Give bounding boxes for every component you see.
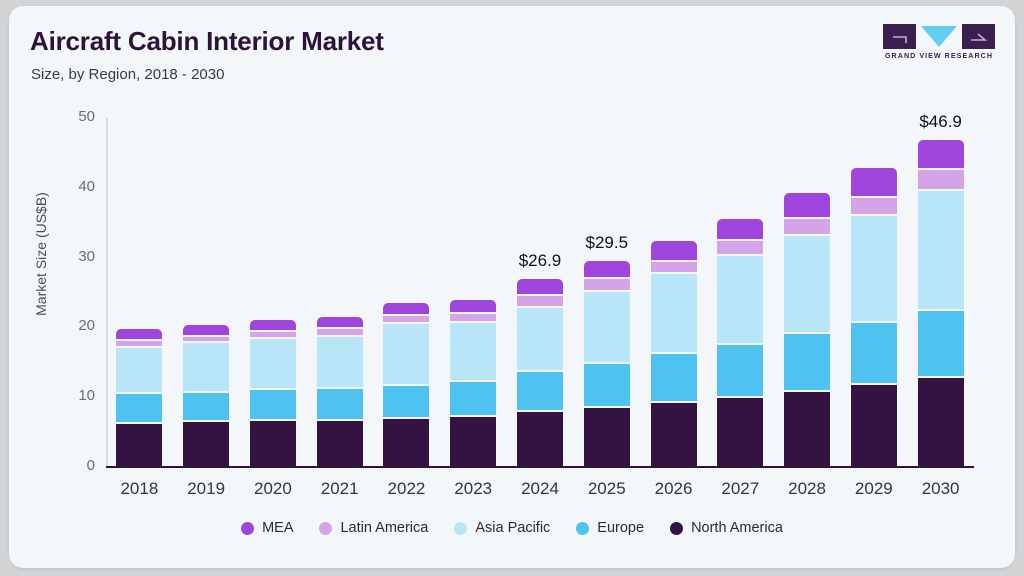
legend-item-north-america[interactable]: North America xyxy=(670,520,783,536)
bar-segment-mea[interactable] xyxy=(383,303,429,316)
bar-segment-mea[interactable] xyxy=(717,219,763,241)
legend-swatch-icon xyxy=(454,522,467,535)
bar-stack xyxy=(918,140,964,467)
bar-segment-europe[interactable] xyxy=(383,386,429,419)
legend-swatch-icon xyxy=(576,522,589,535)
bar-segment-mea[interactable] xyxy=(317,317,363,329)
bar-2028[interactable] xyxy=(784,118,830,467)
y-axis-tick-10: 10 xyxy=(47,387,95,404)
bar-stack xyxy=(584,261,630,467)
bar-stack xyxy=(517,279,563,467)
bar-segment-asia-pacific[interactable] xyxy=(450,323,496,382)
bar-segment-latin-america[interactable] xyxy=(116,341,162,348)
bar-2027[interactable] xyxy=(717,118,763,467)
value-label-2025: $29.5 xyxy=(568,233,646,253)
bar-segment-asia-pacific[interactable] xyxy=(250,339,296,390)
bar-segment-latin-america[interactable] xyxy=(717,241,763,256)
legend-label: North America xyxy=(691,520,783,536)
bar-segment-latin-america[interactable] xyxy=(851,198,897,217)
bar-2018[interactable] xyxy=(116,118,162,467)
y-axis-tick-30: 30 xyxy=(47,248,95,265)
bar-stack xyxy=(317,317,363,467)
bar-segment-latin-america[interactable] xyxy=(383,316,429,324)
legend-item-latin-america[interactable]: Latin America xyxy=(319,520,428,536)
bar-segment-north-america[interactable] xyxy=(383,419,429,467)
screenshot-root: Aircraft Cabin Interior Market Size, by … xyxy=(0,0,1024,576)
bar-2019[interactable] xyxy=(183,118,229,467)
bar-segment-mea[interactable] xyxy=(651,241,697,262)
bar-segment-asia-pacific[interactable] xyxy=(784,236,830,334)
bar-segment-north-america[interactable] xyxy=(450,417,496,467)
bar-segment-latin-america[interactable] xyxy=(784,219,830,236)
bar-segment-asia-pacific[interactable] xyxy=(651,274,697,354)
bar-segment-europe[interactable] xyxy=(784,334,830,392)
bar-2020[interactable] xyxy=(250,118,296,467)
bar-segment-north-america[interactable] xyxy=(517,412,563,467)
bar-segment-north-america[interactable] xyxy=(317,421,363,467)
bar-stack xyxy=(851,168,897,467)
bar-stack xyxy=(183,325,229,467)
bar-segment-latin-america[interactable] xyxy=(584,279,630,292)
bar-segment-asia-pacific[interactable] xyxy=(717,256,763,345)
bar-segment-asia-pacific[interactable] xyxy=(918,191,964,311)
bar-2026[interactable] xyxy=(651,118,697,467)
bar-segment-mea[interactable] xyxy=(450,300,496,314)
legend-label: Asia Pacific xyxy=(475,520,550,536)
legend-swatch-icon xyxy=(670,522,683,535)
value-label-2024: $26.9 xyxy=(501,251,579,271)
chart-legend: MEALatin AmericaAsia PacificEuropeNorth … xyxy=(9,520,1015,536)
bar-stack xyxy=(717,219,763,467)
bar-2029[interactable] xyxy=(851,118,897,467)
legend-item-europe[interactable]: Europe xyxy=(576,520,644,536)
bar-segment-mea[interactable] xyxy=(250,320,296,332)
bar-2022[interactable] xyxy=(383,118,429,467)
legend-swatch-icon xyxy=(319,522,332,535)
bar-stack xyxy=(116,329,162,467)
legend-label: Europe xyxy=(597,520,644,536)
bar-segment-north-america[interactable] xyxy=(651,403,697,467)
bar-segment-latin-america[interactable] xyxy=(250,332,296,339)
bars-layer xyxy=(106,118,974,467)
bar-stack xyxy=(784,193,830,467)
bar-segment-mea[interactable] xyxy=(851,168,897,197)
bar-2023[interactable] xyxy=(450,118,496,467)
bar-segment-europe[interactable] xyxy=(717,345,763,398)
value-label-2030: $46.9 xyxy=(902,112,980,132)
bar-segment-mea[interactable] xyxy=(784,193,830,219)
bar-segment-mea[interactable] xyxy=(183,325,229,337)
bar-segment-europe[interactable] xyxy=(317,389,363,421)
y-axis-tick-40: 40 xyxy=(47,178,95,195)
bar-stack xyxy=(450,300,496,467)
bar-segment-latin-america[interactable] xyxy=(317,329,363,337)
x-axis-tick-2030: 2030 xyxy=(902,479,980,499)
bar-segment-north-america[interactable] xyxy=(851,385,897,467)
bar-stack xyxy=(383,303,429,467)
bar-segment-europe[interactable] xyxy=(183,393,229,422)
bar-segment-asia-pacific[interactable] xyxy=(116,348,162,394)
bar-stack xyxy=(651,241,697,467)
legend-item-mea[interactable]: MEA xyxy=(241,520,293,536)
bar-segment-asia-pacific[interactable] xyxy=(317,337,363,389)
bar-segment-mea[interactable] xyxy=(918,140,964,170)
bar-chart: Market Size (US$B) 01020304050 201820192… xyxy=(9,6,1015,568)
legend-item-asia-pacific[interactable]: Asia Pacific xyxy=(454,520,550,536)
bar-segment-north-america[interactable] xyxy=(116,424,162,467)
bar-segment-latin-america[interactable] xyxy=(450,314,496,322)
bar-segment-latin-america[interactable] xyxy=(517,296,563,308)
y-axis-tick-20: 20 xyxy=(47,317,95,334)
bar-segment-asia-pacific[interactable] xyxy=(851,216,897,322)
legend-label: MEA xyxy=(262,520,293,536)
bar-2024[interactable] xyxy=(517,118,563,467)
bar-segment-europe[interactable] xyxy=(651,354,697,403)
bar-segment-latin-america[interactable] xyxy=(651,262,697,275)
bar-segment-north-america[interactable] xyxy=(717,398,763,467)
bar-segment-asia-pacific[interactable] xyxy=(383,324,429,386)
bar-segment-asia-pacific[interactable] xyxy=(517,308,563,372)
bar-segment-mea[interactable] xyxy=(517,279,563,296)
bar-2030[interactable] xyxy=(918,118,964,467)
bar-segment-north-america[interactable] xyxy=(183,422,229,467)
bar-segment-north-america[interactable] xyxy=(784,392,830,467)
bar-segment-mea[interactable] xyxy=(584,261,630,278)
bar-segment-europe[interactable] xyxy=(450,382,496,418)
bar-segment-europe[interactable] xyxy=(918,311,964,379)
legend-label: Latin America xyxy=(340,520,428,536)
bar-segment-latin-america[interactable] xyxy=(918,170,964,191)
bar-segment-north-america[interactable] xyxy=(250,421,296,467)
bar-segment-europe[interactable] xyxy=(851,323,897,386)
bar-segment-europe[interactable] xyxy=(250,390,296,421)
bar-segment-asia-pacific[interactable] xyxy=(183,343,229,393)
bar-stack xyxy=(250,320,296,467)
y-axis-tick-50: 50 xyxy=(47,108,95,125)
bar-segment-north-america[interactable] xyxy=(918,378,964,467)
bar-segment-mea[interactable] xyxy=(116,329,162,341)
bar-segment-north-america[interactable] xyxy=(584,408,630,467)
chart-card: Aircraft Cabin Interior Market Size, by … xyxy=(9,6,1015,568)
bar-segment-europe[interactable] xyxy=(517,372,563,412)
bar-segment-asia-pacific[interactable] xyxy=(584,292,630,364)
legend-swatch-icon xyxy=(241,522,254,535)
bar-2021[interactable] xyxy=(317,118,363,467)
bar-segment-europe[interactable] xyxy=(116,394,162,424)
y-axis-tick-0: 0 xyxy=(47,457,95,474)
bar-2025[interactable] xyxy=(584,118,630,467)
bar-segment-europe[interactable] xyxy=(584,364,630,408)
